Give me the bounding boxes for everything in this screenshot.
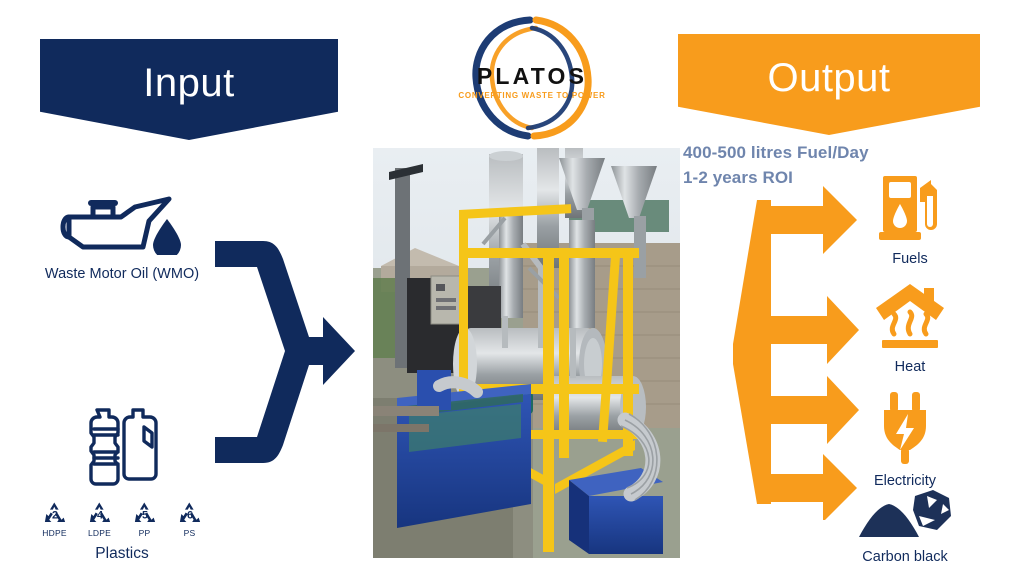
platos-logo: PLATOS CONVERTING WASTE TO POWER [452,8,612,148]
stat-line-fuel-per-day: 400-500 litres Fuel/Day [683,141,983,166]
input-item-plastics: 2 HDPE 4 LDPE [22,400,222,563]
merge-arrow-icon [205,233,360,478]
coal-pile-icon [857,490,953,545]
recycling-code-label: HDPE [42,528,66,538]
output-item-label: Electricity [874,473,936,489]
power-plug-icon [876,392,934,469]
output-banner: Output [678,34,980,135]
pyrolysis-plant-photo [373,148,680,558]
input-item-label: Waste Motor Oil (WMO) [45,266,199,282]
output-item-heat: Heat [850,282,970,375]
infographic-canvas: Input PLATOS CONVERTING WASTE TO POWER [0,0,1024,579]
fuel-pump-icon [879,172,941,247]
recycling-code-label: PP [139,528,151,538]
output-item-label: Heat [895,359,926,375]
recycling-code-number: 5 [141,509,147,521]
recycling-codes-row: 2 HDPE 4 LDPE [22,501,222,538]
house-heat-icon [876,282,944,355]
output-item-carbon-black: Carbon black [845,490,965,565]
recycling-code-label: PS [184,528,196,538]
logo-wordmark: PLATOS CONVERTING WASTE TO POWER [458,63,605,100]
recycling-code-number: 4 [96,509,102,521]
input-banner: Input [40,39,338,140]
output-item-fuels: Fuels [850,172,970,267]
recycling-code: 6 PS [171,501,209,538]
svg-text:PLATOS: PLATOS [477,63,587,89]
input-banner-label: Input [143,39,234,103]
output-banner-label: Output [767,34,890,98]
output-item-label: Carbon black [862,549,947,565]
input-item-waste-motor-oil: Waste Motor Oil (WMO) [22,193,222,282]
split-arrow-icon [731,184,859,520]
recycling-code: 5 PP [126,501,164,538]
oil-can-icon [57,193,187,260]
output-item-electricity: Electricity [845,392,965,489]
input-item-label: Plastics [22,545,222,563]
plastic-bottles-icon [79,400,165,493]
output-item-label: Fuels [892,251,927,267]
recycling-code: 2 HDPE [36,501,74,538]
recycling-code-label: LDPE [88,528,111,538]
recycling-code-number: 2 [51,509,57,521]
recycling-code-number: 6 [186,509,192,521]
recycling-code: 4 LDPE [81,501,119,538]
svg-text:CONVERTING WASTE TO POWER: CONVERTING WASTE TO POWER [458,91,605,100]
